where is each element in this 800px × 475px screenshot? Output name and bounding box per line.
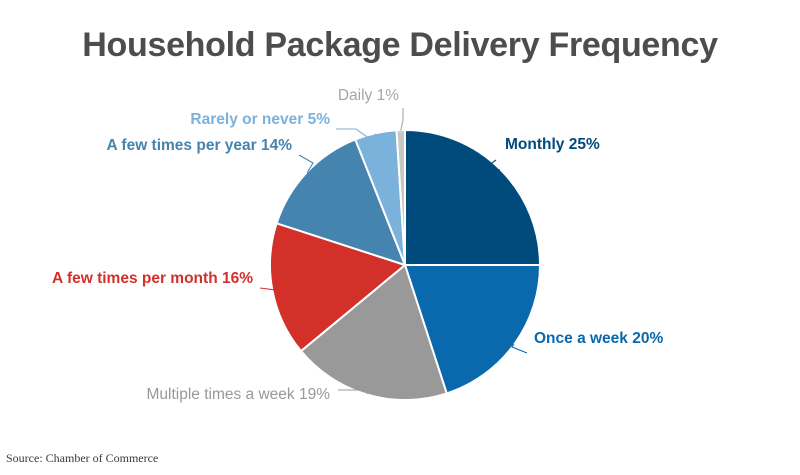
chart-container: Household Package Delivery Frequency Mon… <box>0 0 800 475</box>
pie-slice-label: Rarely or never 5% <box>0 111 330 129</box>
leader-line <box>401 108 403 131</box>
pie-slice-label: Once a week 20% <box>534 330 663 348</box>
pie-slice-label: Multiple times a week 19% <box>0 386 330 404</box>
pie-slices <box>270 130 540 400</box>
source-note: Source: Chamber of Commerce <box>6 451 158 466</box>
pie-slice-label: A few times per month 16% <box>0 270 253 288</box>
pie-slice-label: Monthly 25% <box>505 136 600 154</box>
pie-slice-label: Daily 1% <box>0 87 399 105</box>
pie-slice-label: A few times per year 14% <box>0 137 292 155</box>
